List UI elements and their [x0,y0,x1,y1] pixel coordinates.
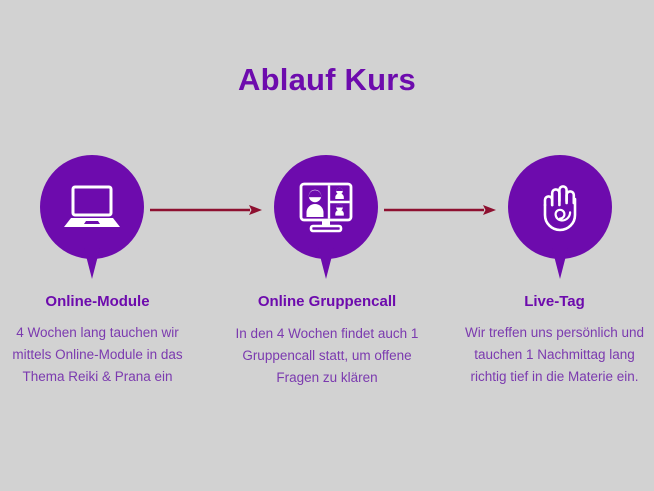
step-heading: Live-Tag [455,292,654,311]
step-pin-online-module [40,155,144,279]
step-text-columns: Online-Module 4 Wochen lang tauchen wir … [0,292,654,482]
step-text-live-tag: Live-Tag Wir treffen uns persönlich und … [455,292,654,388]
step-pin-live-tag [508,155,612,279]
step-heading: Online Gruppencall [228,292,426,311]
step-body: In den 4 Wochen findet auch 1 Gruppencal… [228,323,426,389]
step-text-online-module: Online-Module 4 Wochen lang tauchen wir … [0,292,195,388]
arrow-step1-to-step2 [150,203,262,217]
flow-row [0,155,654,285]
infographic-canvas: Ablauf Kurs [0,0,654,491]
arrow-step2-to-step3 [384,203,496,217]
page-title: Ablauf Kurs [0,62,654,98]
step-body: 4 Wochen lang tauchen wir mittels Online… [0,322,195,388]
video-call-icon [296,177,356,237]
step-heading: Online-Module [0,292,195,311]
laptop-icon [62,177,122,237]
step-text-online-gruppencall: Online Gruppencall In den 4 Wochen finde… [228,292,426,389]
pin-tail [84,248,100,279]
step-pin-online-gruppencall [274,155,378,279]
pin-tail [552,248,568,279]
step-body: Wir treffen uns persönlich und tauchen 1… [455,322,654,388]
healing-hand-icon [530,177,590,237]
pin-tail [318,248,334,279]
